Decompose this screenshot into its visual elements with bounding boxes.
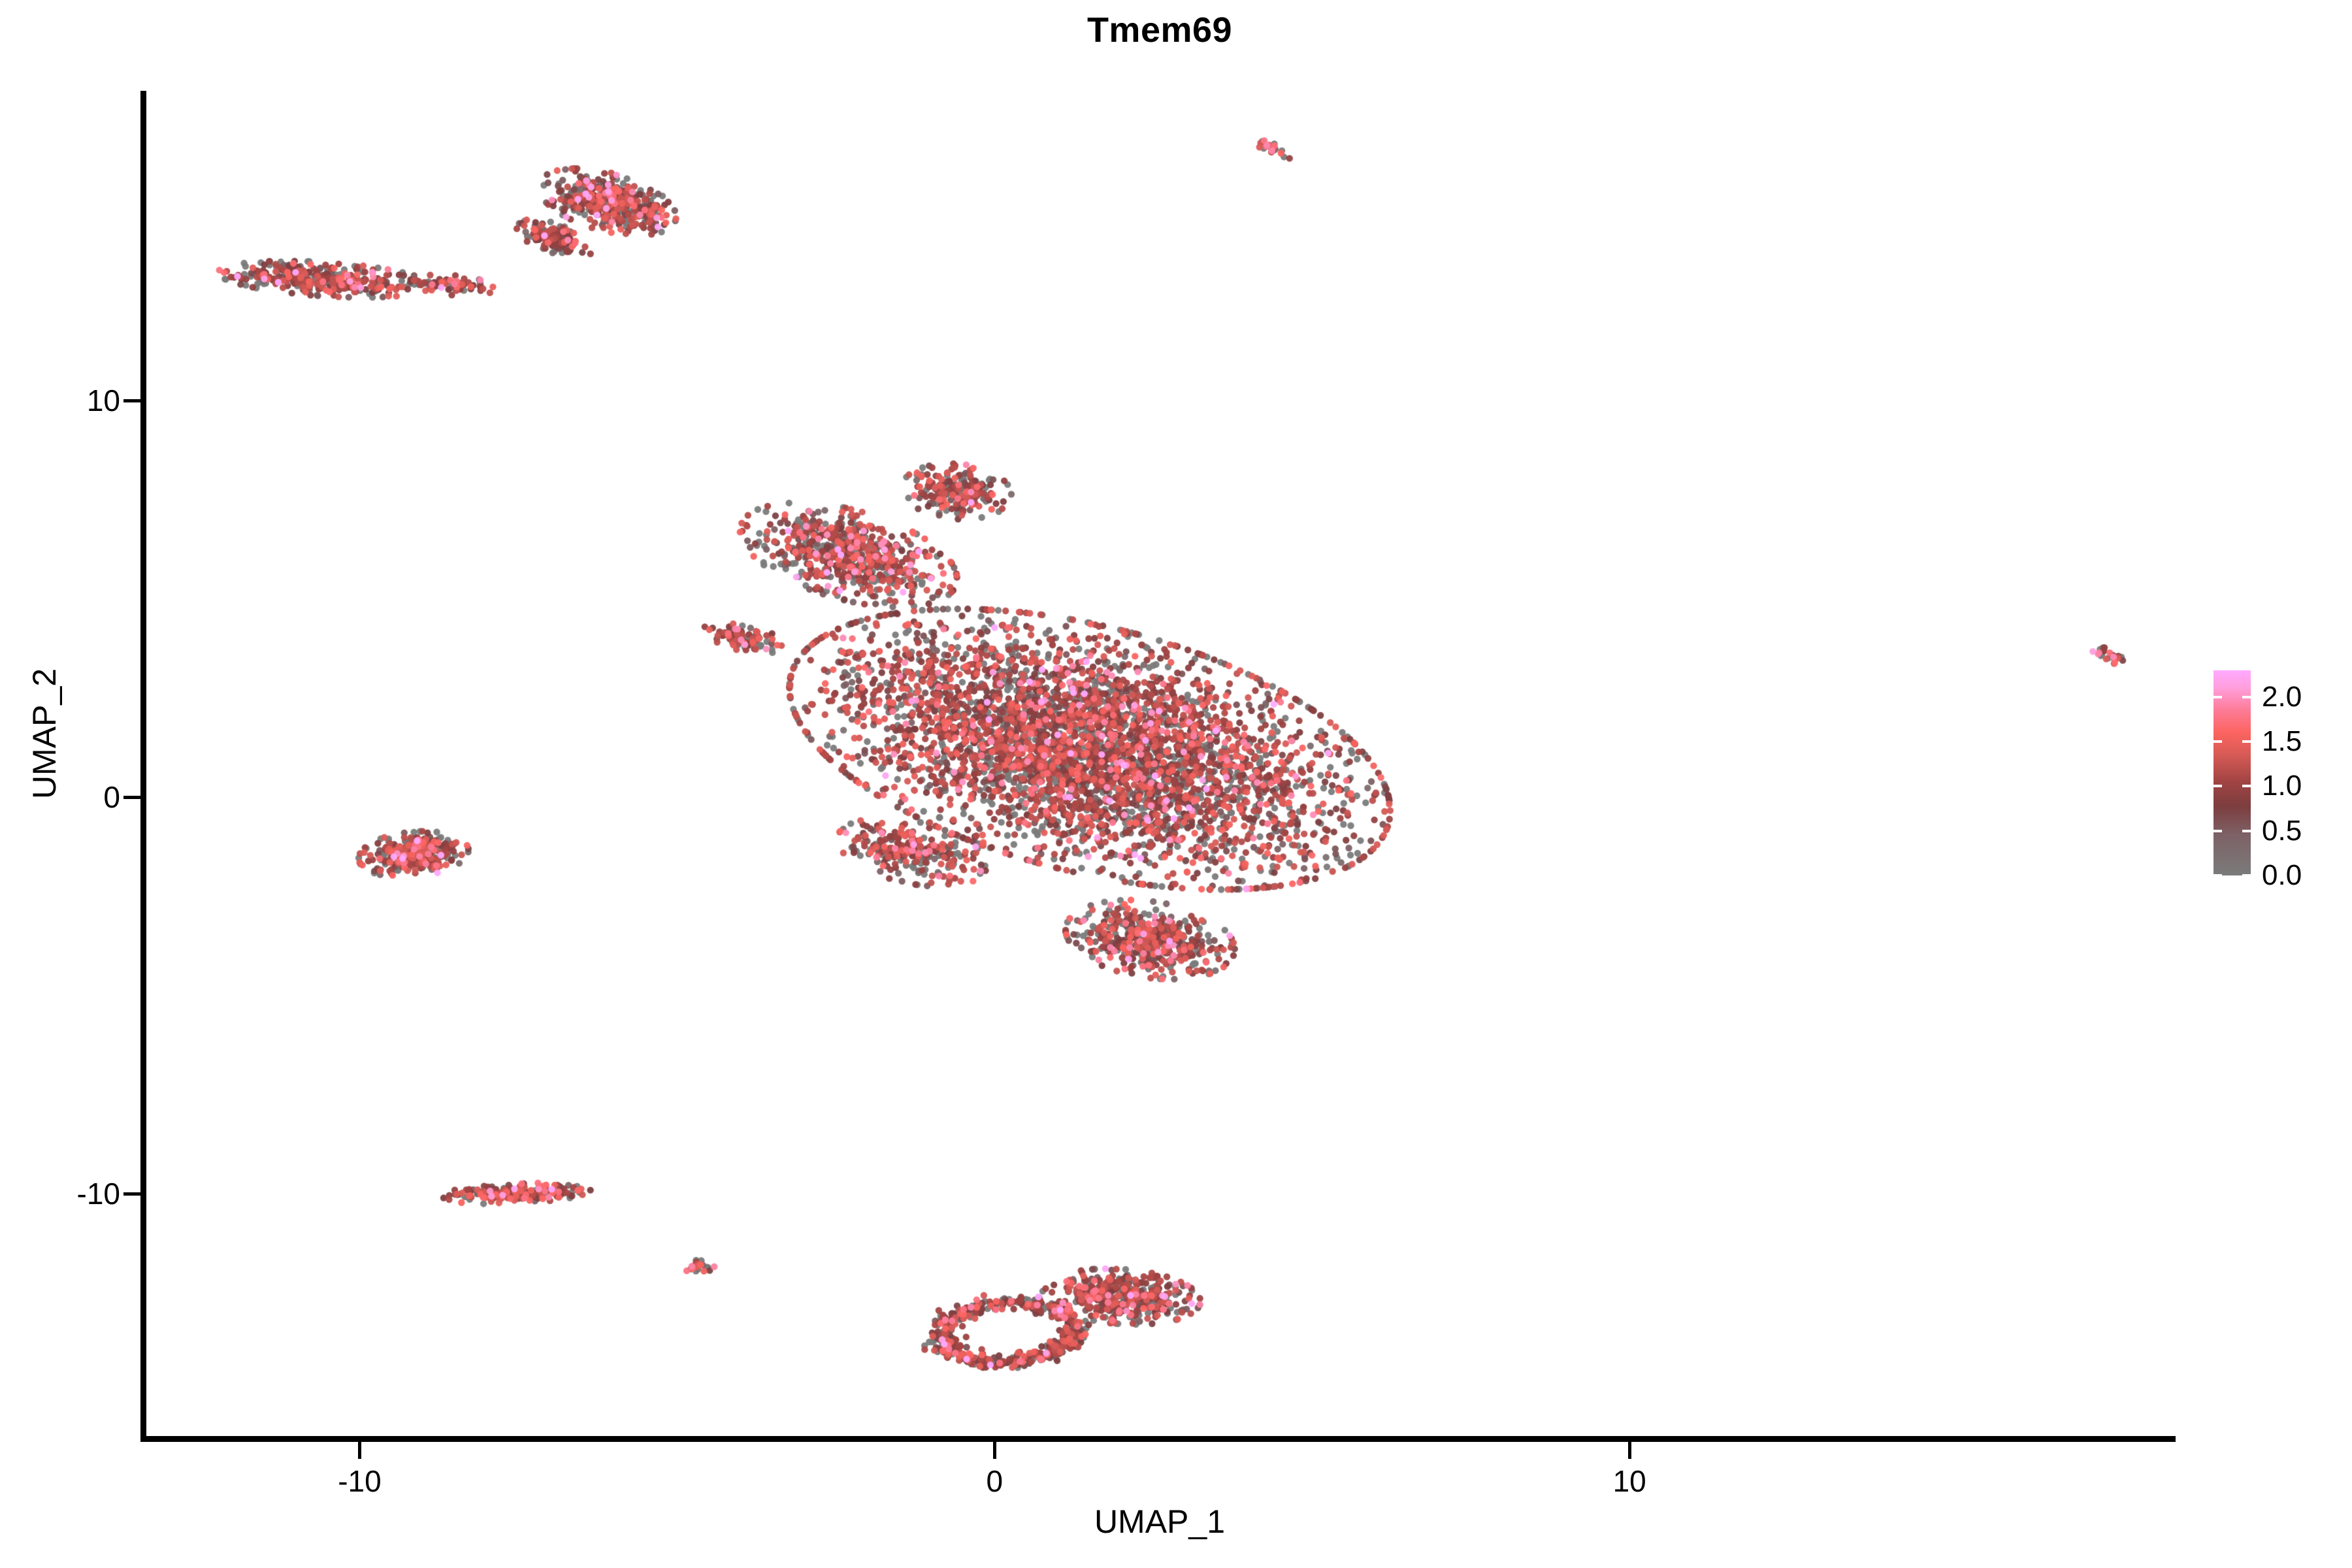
colorbar-tick-label: 2.0: [2262, 681, 2302, 713]
colorbar-tick-mark: [2213, 740, 2222, 743]
x-axis-label: UMAP_1: [144, 1503, 2176, 1541]
x-tick-mark: [1628, 1442, 1631, 1459]
colorbar-gradient: [2213, 670, 2251, 875]
x-tick-label: 10: [1613, 1463, 1646, 1499]
y-axis-label: UMAP_2: [25, 538, 63, 930]
colorbar-tick-mark: [2242, 874, 2251, 877]
colorbar-tick-label: 0.5: [2262, 815, 2302, 847]
colorbar-tick-mark: [2242, 696, 2251, 698]
colorbar-tick-mark: [2213, 874, 2222, 877]
y-tick-mark: [123, 796, 140, 799]
colorbar-tick-label: 0.0: [2262, 859, 2302, 892]
colorbar-tick-mark: [2213, 696, 2222, 698]
colorbar-tick-mark: [2242, 785, 2251, 787]
y-tick-label: -10: [77, 1176, 120, 1211]
x-tick-mark: [993, 1442, 996, 1459]
x-tick-mark: [358, 1442, 361, 1459]
colorbar-tick-mark: [2213, 830, 2222, 832]
y-tick-mark: [123, 399, 140, 402]
color-legend: 0.00.51.01.52.0: [2213, 670, 2344, 886]
y-tick-label: 10: [87, 383, 120, 418]
colorbar-tick-mark: [2242, 740, 2251, 743]
colorbar-tick-mark: [2242, 830, 2251, 832]
colorbar-tick-mark: [2213, 785, 2222, 787]
y-axis-line: [140, 91, 146, 1442]
umap-feature-plot: Tmem69 -10010 -10010 UMAP_1 UMAP_2 0.00.…: [0, 0, 2352, 1568]
x-tick-label: 0: [987, 1463, 1004, 1499]
scatter-plot-canvas: [144, 91, 2176, 1439]
x-axis-line: [140, 1436, 2176, 1442]
x-tick-label: -10: [338, 1463, 381, 1499]
y-tick-label: 0: [103, 779, 120, 815]
page-title: Tmem69: [144, 9, 2176, 51]
colorbar-tick-label: 1.5: [2262, 725, 2302, 758]
y-tick-mark: [123, 1192, 140, 1196]
colorbar-tick-label: 1.0: [2262, 770, 2302, 802]
